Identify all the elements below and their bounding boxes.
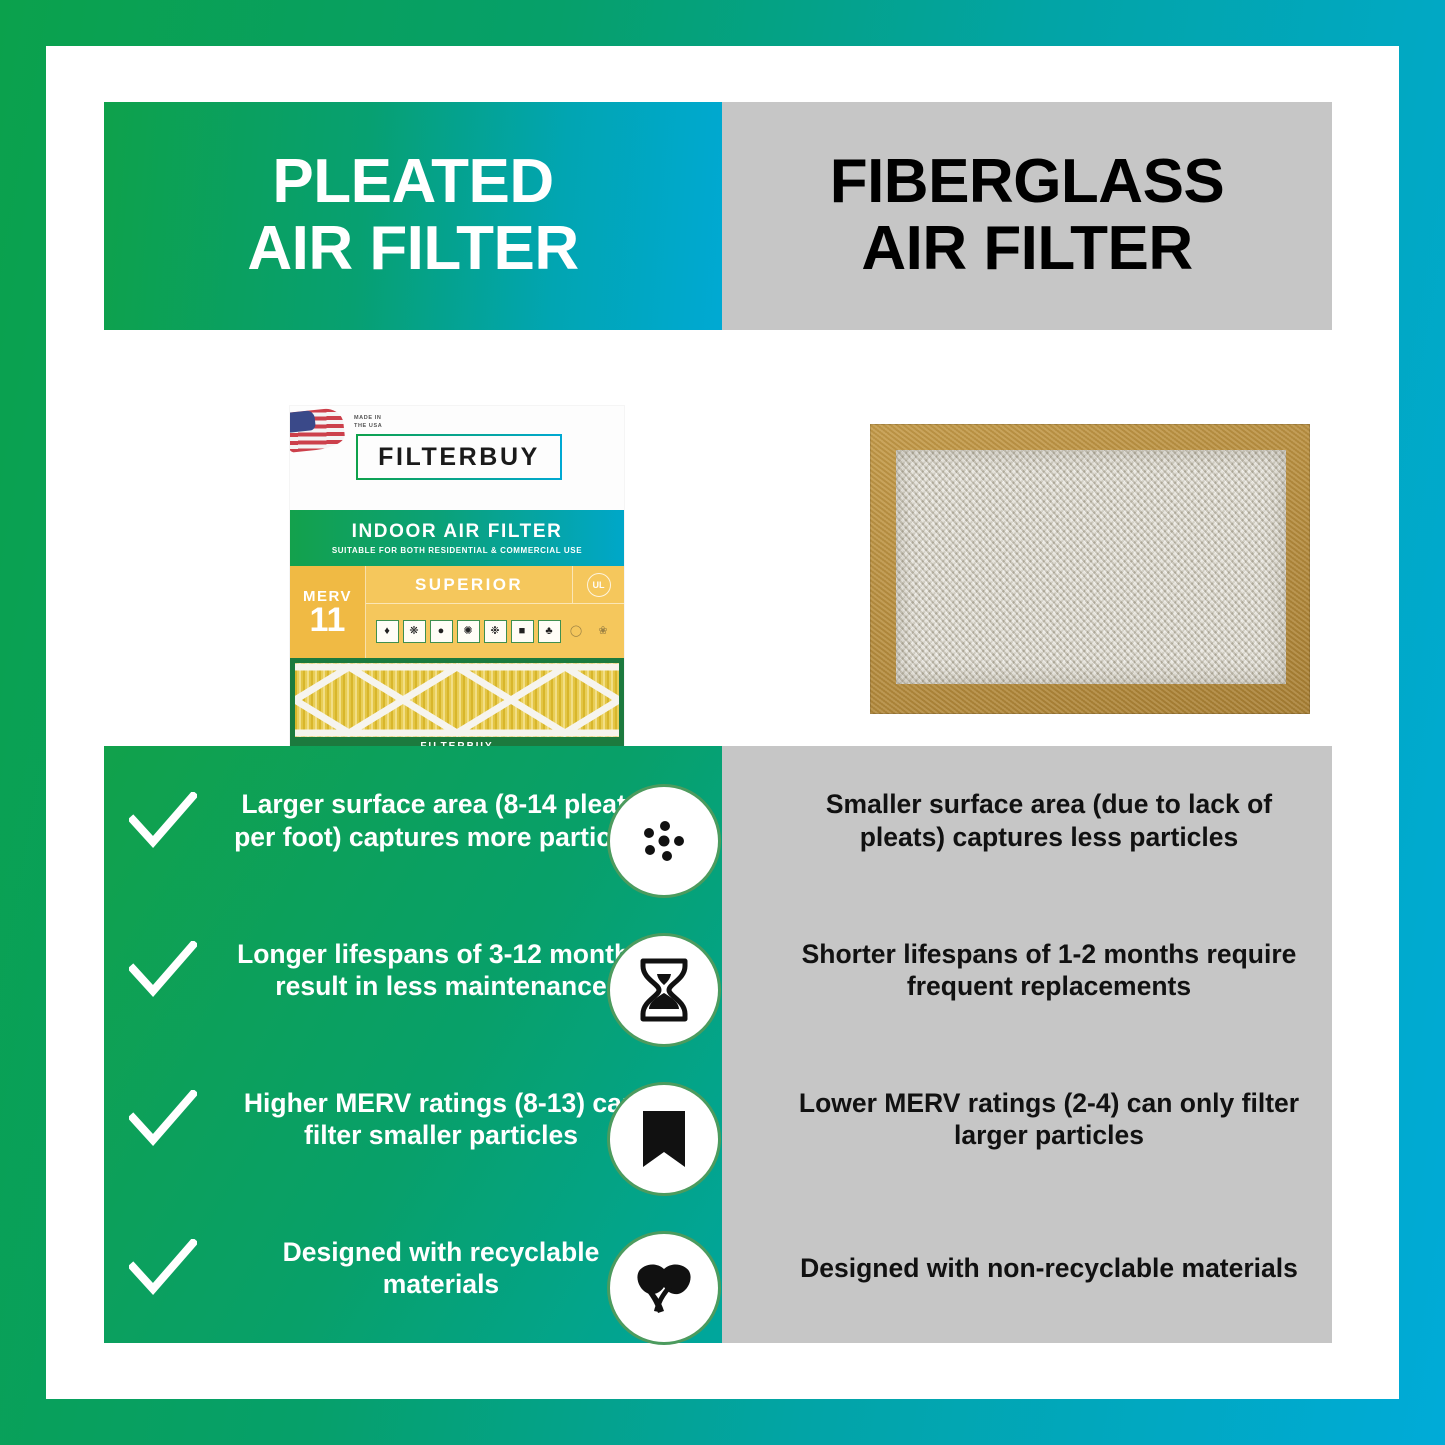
usa-flag-icon bbox=[290, 407, 346, 453]
virus-icon: ● bbox=[430, 620, 453, 643]
package-spec-right: SUPERIOR UL ♦ ❋ ● ✺ ❉ ■ ♣ bbox=[366, 566, 624, 658]
table-row: Smaller surface area (due to lack of ple… bbox=[722, 746, 1332, 895]
support-grid-icon bbox=[295, 663, 619, 737]
tier-row: SUPERIOR UL bbox=[366, 566, 624, 604]
fiberglass-media bbox=[896, 450, 1286, 684]
pollen-icon: ❉ bbox=[484, 620, 507, 643]
merv-badge: MERV 11 bbox=[290, 566, 366, 658]
table-row: Lower MERV ratings (2-4) can only filter… bbox=[722, 1045, 1332, 1194]
brand-logo-box: FILTERBUY bbox=[356, 434, 562, 480]
made-in-line2: THE USA bbox=[354, 422, 382, 430]
checkmark-icon bbox=[104, 1239, 222, 1297]
badge-slot-1 bbox=[610, 787, 718, 895]
header-pleated-line1: PLEATED bbox=[247, 149, 578, 216]
leaf-icon bbox=[610, 1234, 718, 1342]
filter-capability-icons: ♦ ❋ ● ✺ ❉ ■ ♣ ◯ ❀ bbox=[366, 604, 624, 658]
header-pleated: PLEATED AIR FILTER bbox=[104, 102, 722, 330]
header-band: PLEATED AIR FILTER FIBERGLASS AIR FILTER bbox=[104, 102, 1332, 330]
made-in-usa-label: MADE IN THE USA bbox=[354, 414, 382, 431]
mold-icon: ✺ bbox=[457, 620, 480, 643]
pill-icon: ◯ bbox=[565, 620, 588, 643]
bacteria-icon: ❋ bbox=[403, 620, 426, 643]
banner-subtitle: SUITABLE FOR BOTH RESIDENTIAL & COMMERCI… bbox=[332, 546, 582, 555]
header-pleated-line2: AIR FILTER bbox=[247, 216, 578, 283]
banner-title: INDOOR AIR FILTER bbox=[352, 521, 563, 543]
brand-logo-text: FILTERBUY bbox=[378, 443, 540, 472]
comparison-section: Larger surface area (8-14 pleats per foo… bbox=[104, 746, 1332, 1343]
fiberglass-filter-product-image bbox=[870, 424, 1310, 714]
certification-seal: UL bbox=[572, 566, 624, 603]
package-banner: INDOOR AIR FILTER SUITABLE FOR BOTH RESI… bbox=[290, 510, 624, 566]
comparison-right-text: Smaller surface area (due to lack of ple… bbox=[722, 788, 1332, 853]
made-in-line1: MADE IN bbox=[354, 414, 382, 422]
badge-slot-3 bbox=[610, 1085, 718, 1193]
pleated-filter-product-image: MADE IN THE USA FILTERBUY INDOOR AIR FIL… bbox=[290, 406, 624, 754]
comparison-right-text: Designed with non-recyclable materials bbox=[722, 1252, 1332, 1284]
checkmark-icon bbox=[104, 1090, 222, 1148]
header-fiberglass-line1: FIBERGLASS bbox=[830, 149, 1225, 216]
comparison-right-column: Smaller surface area (due to lack of ple… bbox=[722, 746, 1332, 1343]
pleated-media-view: FILTERBUY bbox=[290, 658, 624, 754]
odor-icon: ❀ bbox=[592, 620, 615, 643]
merv-value: 11 bbox=[310, 603, 346, 637]
badge-slot-4 bbox=[610, 1234, 718, 1342]
tier-label: SUPERIOR bbox=[366, 575, 572, 595]
comparison-right-text: Shorter lifespans of 1-2 months require … bbox=[722, 938, 1332, 1003]
bookmark-icon bbox=[610, 1085, 718, 1193]
particles-icon bbox=[610, 787, 718, 895]
pet-dander-icon: ■ bbox=[511, 620, 534, 643]
dust-icon: ♦ bbox=[376, 620, 399, 643]
gradient-frame: PLEATED AIR FILTER FIBERGLASS AIR FILTER… bbox=[0, 0, 1445, 1445]
package-top-panel: MADE IN THE USA FILTERBUY bbox=[290, 406, 624, 510]
package-spec-panel: MERV 11 SUPERIOR UL ♦ ❋ ● bbox=[290, 566, 624, 658]
header-fiberglass-title: FIBERGLASS AIR FILTER bbox=[830, 149, 1225, 283]
header-fiberglass-line2: AIR FILTER bbox=[830, 216, 1225, 283]
table-row: Shorter lifespans of 1-2 months require … bbox=[722, 895, 1332, 1044]
checkmark-icon bbox=[104, 941, 222, 999]
comparison-right-rows: Smaller surface area (due to lack of ple… bbox=[722, 746, 1332, 1343]
ul-seal-icon: UL bbox=[587, 573, 611, 597]
table-row: Designed with non-recyclable materials bbox=[722, 1194, 1332, 1343]
comparison-right-text: Lower MERV ratings (2-4) can only filter… bbox=[722, 1087, 1332, 1152]
badge-slot-2 bbox=[610, 936, 718, 1044]
smoke-icon: ♣ bbox=[538, 620, 561, 643]
header-pleated-title: PLEATED AIR FILTER bbox=[247, 149, 578, 283]
product-images-row: MADE IN THE USA FILTERBUY INDOOR AIR FIL… bbox=[104, 330, 1332, 746]
header-fiberglass: FIBERGLASS AIR FILTER bbox=[722, 102, 1332, 330]
white-sheet: PLEATED AIR FILTER FIBERGLASS AIR FILTER… bbox=[46, 46, 1399, 1399]
checkmark-icon bbox=[104, 792, 222, 850]
hourglass-icon bbox=[610, 936, 718, 1044]
pleated-media bbox=[295, 663, 619, 737]
